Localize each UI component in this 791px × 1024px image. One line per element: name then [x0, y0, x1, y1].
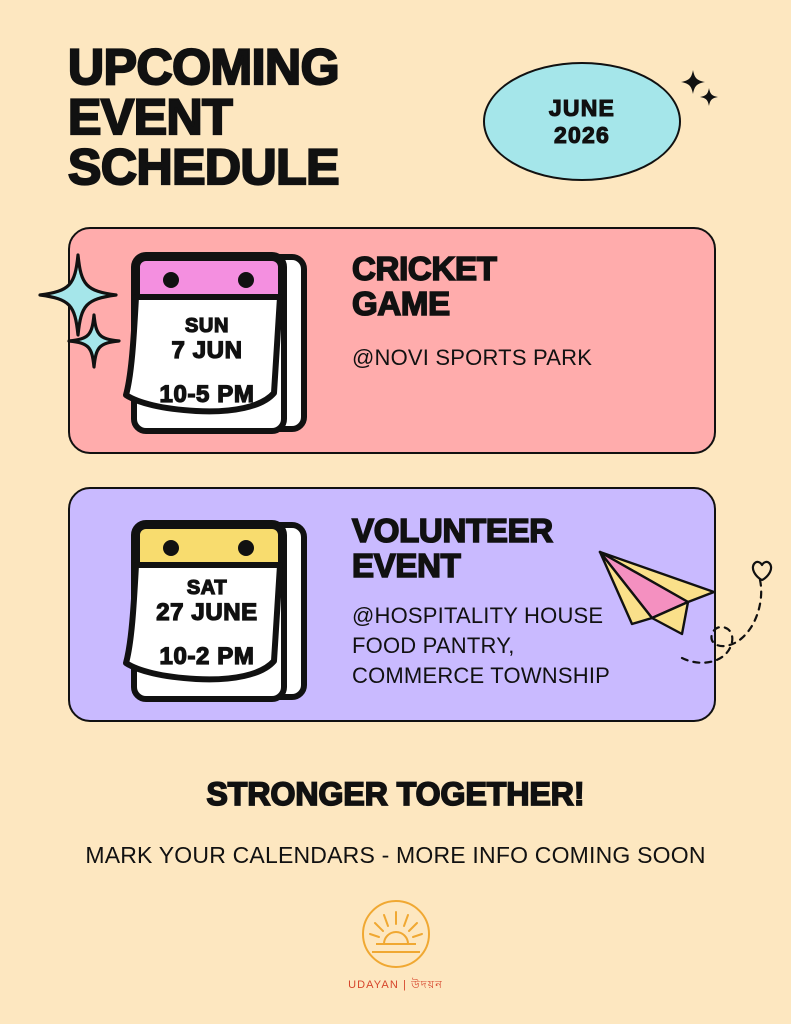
calendar-icon-2: SAT 27 JUNE 10-2 PM: [112, 511, 328, 711]
brand-name: UDAYAN | উদয়ন: [348, 976, 443, 995]
event-title-2-line-1: VOLUNTEER: [352, 513, 700, 548]
title-line-2: EVENT: [68, 92, 488, 142]
sparkle-pair-header: [679, 66, 727, 114]
event-title-1-line-2: GAME: [352, 286, 700, 321]
page-title: UPCOMING EVENT SCHEDULE: [68, 42, 488, 192]
event-venue-2-line-3: COMMERCE TOWNSHIP: [352, 661, 700, 691]
month-badge-year: 2026: [554, 122, 610, 149]
sparkle-pair-card: [38, 253, 134, 373]
tagline: STRONGER TOGETHER!: [0, 776, 791, 813]
sunrise-icon: [360, 898, 432, 970]
title-line-3: SCHEDULE: [68, 142, 488, 192]
plane-trail-icon: [680, 546, 790, 666]
event-details-1: CRICKET GAME @NOVI SPORTS PARK: [352, 251, 700, 373]
month-badge: JUNE 2026: [483, 62, 681, 181]
title-line-1: UPCOMING: [68, 42, 488, 92]
event-card-cricket-game[interactable]: SUN 7 JUN 10-5 PM CRICKET GAME @NOVI SPO…: [68, 227, 716, 454]
calendar-icon-1: SUN 7 JUN 10-5 PM: [112, 243, 328, 443]
event-schedule-poster: UPCOMING EVENT SCHEDULE JUNE 2026: [0, 0, 791, 1024]
event-title-1-line-1: CRICKET: [352, 251, 700, 286]
month-badge-month: JUNE: [549, 95, 615, 122]
subtagline: MARK YOUR CALENDARS - MORE INFO COMING S…: [0, 842, 791, 869]
brand-logo: UDAYAN | উদয়ন: [0, 898, 791, 995]
event-venue-1: @NOVI SPORTS PARK: [352, 343, 700, 373]
